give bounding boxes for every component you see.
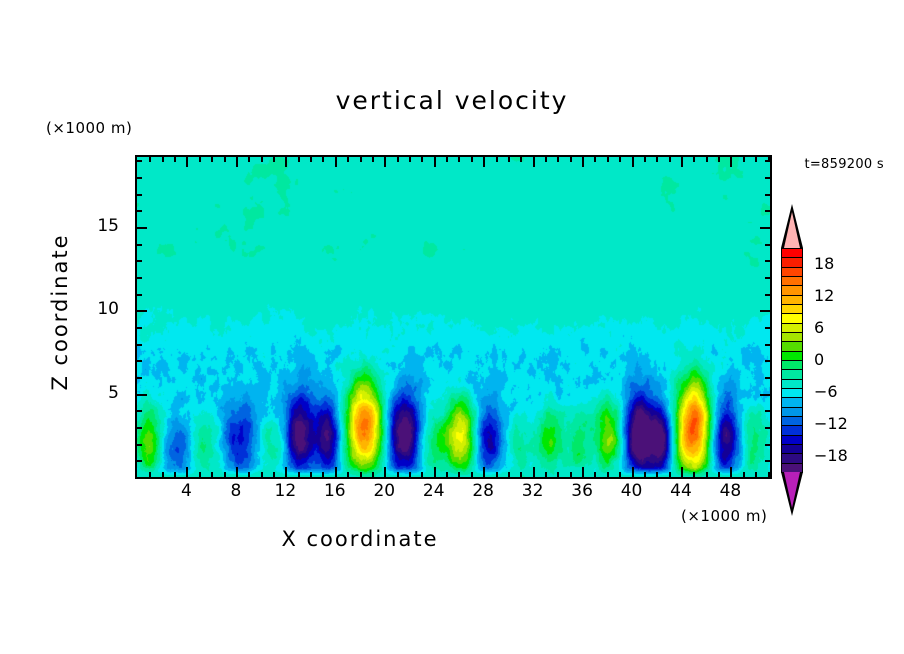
y-tick-label: 10	[79, 299, 119, 319]
x-axis-unit-label: (×1000 m)	[681, 507, 767, 525]
y-tick-label: 15	[79, 216, 119, 236]
x-tick	[310, 472, 312, 477]
x-tick-top	[248, 157, 250, 162]
x-tick	[582, 467, 584, 477]
x-tick-label: 24	[414, 481, 454, 501]
y-tick-right	[765, 277, 770, 279]
y-tick-right	[765, 360, 770, 362]
x-tick	[273, 472, 275, 477]
y-tick	[137, 277, 142, 279]
x-tick-top	[211, 157, 213, 162]
x-tick	[619, 472, 621, 477]
y-tick-right	[765, 377, 770, 379]
x-axis-title: X coordinate	[0, 527, 720, 551]
x-tick-label: 28	[463, 481, 503, 501]
contour-plot-area	[135, 155, 772, 479]
x-tick	[285, 467, 287, 477]
x-tick-top	[174, 157, 176, 162]
y-tick-right	[765, 210, 770, 212]
x-tick-top	[706, 157, 708, 162]
x-tick	[594, 472, 596, 477]
x-tick-top	[149, 157, 151, 162]
x-tick	[434, 467, 436, 477]
x-tick	[372, 472, 374, 477]
x-tick	[718, 472, 720, 477]
y-tick-right	[765, 194, 770, 196]
x-tick-label: 32	[513, 481, 553, 501]
x-tick-top	[186, 157, 188, 167]
x-tick-top	[360, 157, 362, 162]
colorbar-label: 6	[814, 318, 824, 337]
page-title: vertical velocity	[0, 86, 904, 115]
x-tick	[545, 472, 547, 477]
x-tick-top	[224, 157, 226, 162]
x-tick-top	[693, 157, 695, 162]
x-tick	[681, 467, 683, 477]
y-tick-right	[765, 177, 770, 179]
x-tick-top	[607, 157, 609, 162]
time-annotation: t=859200 s	[804, 157, 884, 172]
x-tick	[397, 472, 399, 477]
x-tick	[557, 472, 559, 477]
x-tick	[347, 472, 349, 477]
x-tick-top	[261, 157, 263, 162]
y-tick-right	[765, 160, 770, 162]
x-tick	[483, 467, 485, 477]
x-tick-top	[570, 157, 572, 162]
y-tick	[137, 410, 142, 412]
y-tick-right	[765, 410, 770, 412]
x-tick	[632, 467, 634, 477]
x-tick-top	[508, 157, 510, 162]
x-tick-top	[483, 157, 485, 167]
x-tick-top	[397, 157, 399, 162]
y-tick	[137, 294, 142, 296]
x-tick-top	[434, 157, 436, 167]
x-tick	[743, 472, 745, 477]
x-tick-top	[285, 157, 287, 167]
x-tick	[421, 472, 423, 477]
x-tick	[322, 472, 324, 477]
x-tick-top	[632, 157, 634, 167]
y-tick-right	[765, 427, 770, 429]
colorbar-label: 12	[814, 286, 834, 305]
x-tick-top	[236, 157, 238, 167]
x-tick-top	[557, 157, 559, 162]
y-tick	[137, 310, 147, 312]
x-tick	[706, 472, 708, 477]
y-tick-right	[760, 394, 770, 396]
x-tick-label: 48	[710, 481, 750, 501]
y-tick-right	[765, 260, 770, 262]
x-tick	[335, 467, 337, 477]
x-tick-top	[718, 157, 720, 162]
x-tick-top	[322, 157, 324, 162]
x-tick	[669, 472, 671, 477]
x-tick-top	[199, 157, 201, 162]
x-tick	[693, 472, 695, 477]
y-axis-unit-label: (×1000 m)	[46, 119, 132, 137]
x-tick	[533, 467, 535, 477]
colorbar-over-arrow	[784, 212, 800, 248]
x-tick	[570, 472, 572, 477]
y-tick	[137, 460, 142, 462]
x-tick-top	[681, 157, 683, 167]
x-tick-top	[384, 157, 386, 167]
x-tick	[508, 472, 510, 477]
x-tick	[755, 472, 757, 477]
x-tick-top	[533, 157, 535, 167]
x-tick-top	[520, 157, 522, 162]
x-tick	[496, 472, 498, 477]
x-tick-label: 8	[216, 481, 256, 501]
vertical-velocity-field	[137, 157, 770, 477]
x-tick	[248, 472, 250, 477]
x-tick	[199, 472, 201, 477]
x-tick-top	[273, 157, 275, 162]
y-axis-title: Z coordinate	[48, 212, 72, 412]
x-tick-top	[730, 157, 732, 167]
y-tick	[137, 177, 142, 179]
x-tick	[730, 467, 732, 477]
y-tick	[137, 444, 142, 446]
colorbar-under-arrow	[784, 472, 800, 508]
x-tick-label: 36	[562, 481, 602, 501]
colorbar	[781, 248, 803, 472]
x-tick-label: 20	[364, 481, 404, 501]
y-tick-right	[765, 444, 770, 446]
x-tick-top	[619, 157, 621, 162]
x-tick	[149, 472, 151, 477]
y-tick	[137, 194, 142, 196]
x-tick-top	[446, 157, 448, 162]
x-tick-top	[644, 157, 646, 162]
y-tick-right	[760, 310, 770, 312]
colorbar-label: 0	[814, 350, 824, 369]
y-tick	[137, 210, 142, 212]
x-tick-top	[310, 157, 312, 162]
x-tick	[768, 472, 770, 477]
x-tick-top	[298, 157, 300, 162]
x-tick	[162, 472, 164, 477]
x-tick	[360, 472, 362, 477]
x-tick-top	[496, 157, 498, 162]
x-tick	[298, 472, 300, 477]
x-tick-top	[582, 157, 584, 167]
y-tick-label: 5	[79, 383, 119, 403]
y-tick	[137, 427, 142, 429]
x-tick-top	[162, 157, 164, 162]
x-tick	[261, 472, 263, 477]
y-tick	[137, 244, 142, 246]
y-tick-right	[760, 227, 770, 229]
x-tick	[471, 472, 473, 477]
y-tick-right	[765, 344, 770, 346]
y-tick-right	[765, 327, 770, 329]
x-tick-label: 12	[265, 481, 305, 501]
x-tick-top	[471, 157, 473, 162]
x-tick-top	[669, 157, 671, 162]
y-tick	[137, 377, 142, 379]
x-tick	[211, 472, 213, 477]
x-tick	[384, 467, 386, 477]
colorbar-label: 18	[814, 254, 834, 273]
x-tick	[224, 472, 226, 477]
colorbar-label: −6	[814, 382, 838, 401]
y-tick	[137, 394, 147, 396]
y-tick-right	[765, 294, 770, 296]
x-tick-top	[656, 157, 658, 162]
x-tick-top	[335, 157, 337, 167]
x-tick	[174, 472, 176, 477]
x-tick	[236, 467, 238, 477]
y-tick	[137, 227, 147, 229]
x-tick	[607, 472, 609, 477]
x-tick-label: 40	[612, 481, 652, 501]
y-tick	[137, 344, 142, 346]
x-tick-top	[409, 157, 411, 162]
x-tick-top	[594, 157, 596, 162]
x-tick	[446, 472, 448, 477]
x-tick-top	[743, 157, 745, 162]
x-tick	[186, 467, 188, 477]
y-tick	[137, 360, 142, 362]
colorbar-label: −12	[814, 414, 848, 433]
x-tick-top	[372, 157, 374, 162]
y-tick	[137, 260, 142, 262]
x-tick-top	[458, 157, 460, 162]
x-tick-top	[755, 157, 757, 162]
y-tick	[137, 327, 142, 329]
y-tick-right	[765, 460, 770, 462]
x-tick-top	[347, 157, 349, 162]
colorbar-label: −18	[814, 446, 848, 465]
x-tick-label: 44	[661, 481, 701, 501]
x-tick-label: 16	[315, 481, 355, 501]
x-tick	[409, 472, 411, 477]
y-tick-right	[765, 244, 770, 246]
x-tick	[656, 472, 658, 477]
x-tick	[520, 472, 522, 477]
y-tick	[137, 160, 142, 162]
x-tick-top	[545, 157, 547, 162]
x-tick	[644, 472, 646, 477]
x-tick-top	[421, 157, 423, 162]
x-tick-label: 4	[166, 481, 206, 501]
x-tick	[458, 472, 460, 477]
